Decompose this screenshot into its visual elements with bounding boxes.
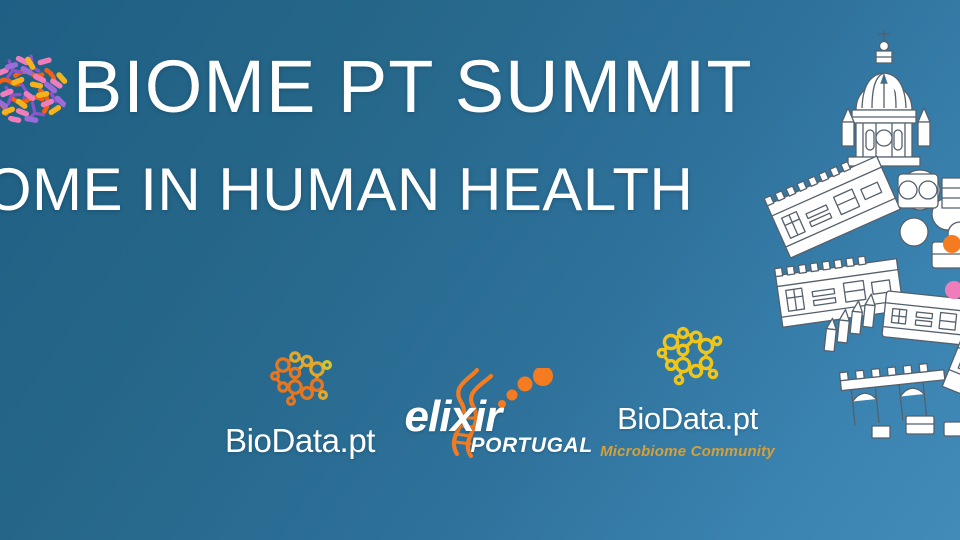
logo-elixir-portugal[interactable]: elixir PORTUGAL bbox=[395, 330, 580, 460]
logo-elixir-country: PORTUGAL bbox=[471, 434, 593, 458]
headline-block: CR bbox=[0, 48, 880, 220]
dna-helix-icon: elixir PORTUGAL bbox=[399, 368, 577, 460]
logo-microbiome-tagline: Microbiome Community bbox=[600, 443, 775, 460]
page-title: CR bbox=[0, 48, 880, 126]
logo-biodata-microbiome-community[interactable]: BioData.pt Microbiome Community bbox=[580, 330, 795, 460]
logo-biodata-pt[interactable]: BioData.pt bbox=[205, 330, 395, 460]
molecular-network-icon bbox=[647, 318, 729, 395]
sponsor-logo-strip: BioData.pt bbox=[205, 330, 805, 460]
page-title-suffix: BIOME PT SUMMIT bbox=[73, 50, 753, 124]
page-subtitle: OBIOME IN HUMAN HEALTH bbox=[0, 160, 880, 220]
logo-biodata-pt-wordmark: BioData.pt bbox=[225, 422, 375, 460]
logo-microbiome-wordmark: BioData.pt bbox=[617, 401, 758, 437]
molecular-network-icon bbox=[261, 343, 339, 416]
conference-banner: CR bbox=[0, 0, 960, 540]
accent-microbe-dots bbox=[916, 230, 960, 340]
microbe-circle-icon bbox=[0, 50, 70, 128]
